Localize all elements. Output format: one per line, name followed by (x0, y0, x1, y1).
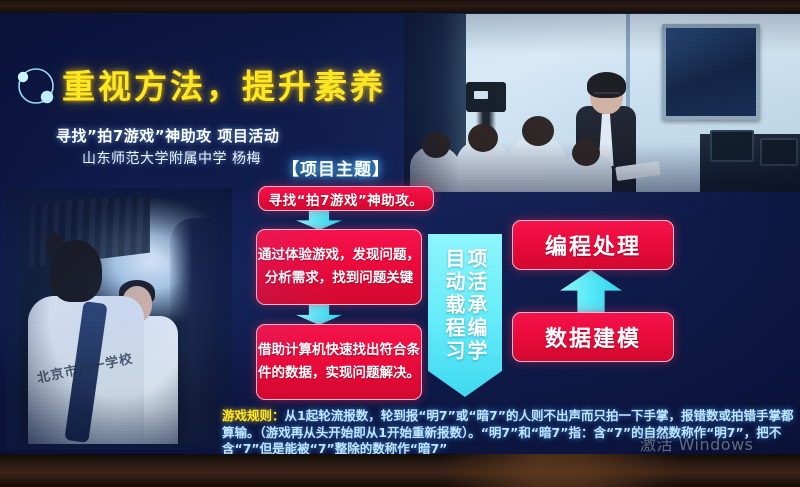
photo-teacher-body (576, 106, 636, 192)
arrow-down-icon-1 (296, 210, 342, 230)
photo-display-screen (662, 24, 760, 120)
photo-monitor-3 (760, 138, 798, 166)
presentation-slide: 北京市八一学校 重视方法，提升素养 寻找”拍7游戏”神助攻 项目活动 山东师范大… (0, 12, 800, 455)
photo-monitor-2 (710, 130, 754, 162)
photo-student-3 (508, 136, 566, 192)
photo-wall (404, 14, 800, 192)
photo-student-4 (562, 152, 612, 192)
arrow-up-icon (560, 270, 622, 313)
ribbon-column-right: 项活承编学 (466, 248, 486, 376)
flow-box-modeling: 数据建模 (512, 312, 674, 362)
flow-box-step2: 借助计算机快速找出符合条件的数据，实现问题解决。 (256, 324, 422, 400)
theme-section-header: 【项目主题】 (282, 155, 390, 180)
ribbon-banner-text: 项活承编学 目动载程习 (428, 248, 502, 376)
ribbon-column-left: 目动载程习 (444, 248, 464, 376)
photo-teacher-head (590, 76, 623, 114)
projected-screen-photo: 北京市八一学校 重视方法，提升素养 寻找”拍7游戏”神助攻 项目活动 山东师范大… (0, 0, 800, 487)
photo-student-a-strap (64, 301, 107, 443)
circle-orbit-icon (14, 64, 58, 108)
photo-student-b-body (116, 316, 178, 444)
photo-right-shadow (170, 218, 218, 444)
flow-box-theme: 寻找“拍7游戏”神助攻。 (258, 186, 434, 211)
photo-student-a-body (28, 296, 144, 444)
classroom-photo (404, 14, 800, 192)
game-rules-paragraph: 游戏规则：从1起轮流报数，轮到报“明7”或“暗7”的人则不出声而只拍一下手掌，报… (222, 408, 794, 455)
game-rules-label: 游戏规则： (222, 408, 285, 423)
monitor-bezel-bottom (0, 454, 800, 487)
photo-dark-left (404, 14, 466, 192)
photo-student-a-hair (50, 240, 102, 302)
photo-student-head-4 (572, 140, 600, 166)
flow-box-step1: 通过体验游戏，发现问题，分析需求，找到问题关键 (256, 229, 422, 305)
photo-student-head-1 (422, 132, 450, 158)
photo-student-2 (456, 140, 510, 192)
photo-student-head-2 (468, 124, 498, 152)
photo-teacher-shirt (596, 114, 616, 166)
photo-computer-desk (700, 134, 800, 192)
slide-subtitle-project: 寻找”拍7游戏”神助攻 项目活动 (56, 125, 279, 146)
slide-subtitle-author: 山东师范大学附属中学 杨梅 (82, 148, 261, 168)
photo-student-head-3 (522, 116, 554, 146)
page-title: 重视方法，提升素养 (62, 60, 386, 108)
students-photo: 北京市八一学校 (6, 188, 232, 450)
photo-ceiling-grid (30, 198, 150, 267)
students-photo-inner: 北京市八一学校 (20, 198, 218, 444)
arrow-down-icon-2 (296, 304, 342, 325)
photo-projector (466, 82, 506, 112)
ribbon-banner: 项活承编学 目动载程习 (428, 234, 502, 397)
photo-tripod (476, 112, 496, 170)
photo-window-frame (626, 14, 630, 192)
photo-teacher-paper (615, 161, 661, 181)
uniform-back-text: 北京市八一学校 (35, 349, 133, 407)
game-rules-body: 从1起轮流报数，轮到报“明7”或“暗7”的人则不出声而只拍一下手掌，报错数或拍错… (222, 408, 793, 455)
photo-student-b-face (122, 286, 152, 322)
flow-box-programming: 编程处理 (512, 220, 674, 270)
photo-student-a-ponytail (40, 229, 73, 269)
photo-teacher-hair (587, 72, 626, 98)
photo-teacher-glasses (594, 92, 620, 97)
photo-student-b-hair (119, 280, 155, 304)
